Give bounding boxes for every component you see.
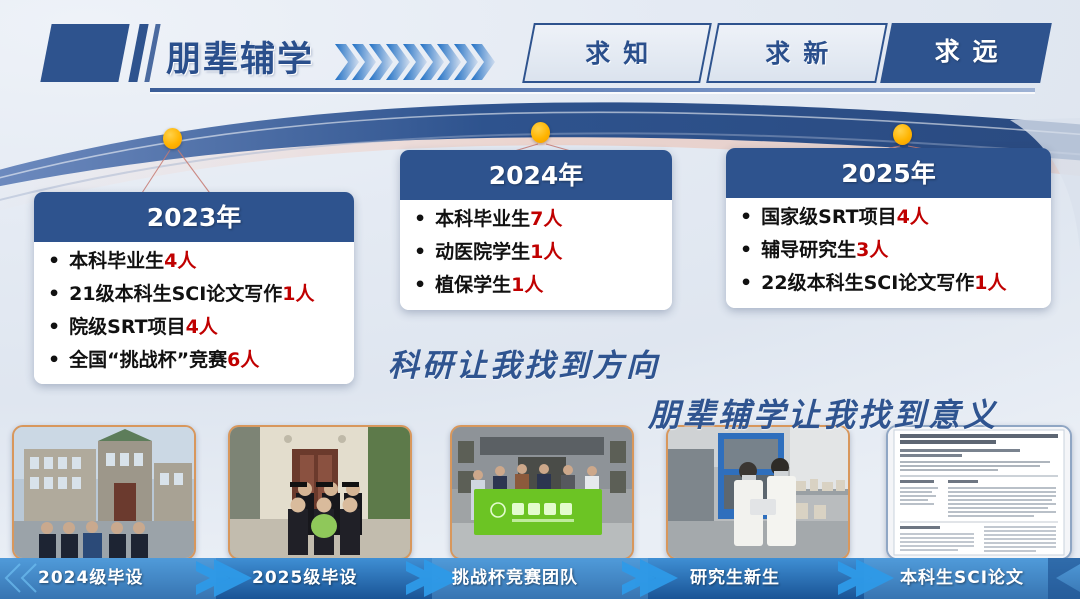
photo-caption: 挑战杯竞赛团队 [452, 558, 578, 599]
list-item-count: 1人 [530, 241, 562, 263]
page-title: 朋辈辅学 [166, 31, 314, 82]
list-item-count: 1人 [511, 274, 543, 296]
annotation-research-direction: 科研让我找到方向 [388, 340, 660, 385]
bullet-icon: • [48, 350, 60, 372]
year-card-2024[interactable]: 2024年 • 本科毕业生7人 • 动医院学生1人 • 植保学生1人 [400, 150, 672, 310]
photo-graduate-newcomers-lab[interactable] [666, 425, 850, 560]
list-item-text: 院级SRT项目 [69, 316, 185, 338]
year-card-body: • 国家级SRT项目4人 • 辅导研究生3人 • 22级本科生SCI论文写作1人 [726, 198, 1051, 308]
list-item: • 22级本科生SCI论文写作1人 [740, 273, 1039, 295]
header-underline-highlight [150, 92, 1035, 94]
bullet-icon: • [414, 275, 426, 297]
list-item-count: 1人 [282, 283, 314, 305]
year-card-body: • 本科毕业生4人 • 21级本科生SCI论文写作1人 • 院级SRT项目4人 … [34, 242, 354, 384]
list-item: • 全国“挑战杯”竞赛6人 [48, 350, 342, 372]
tab-label: 求新 [714, 25, 880, 83]
bullet-icon: • [414, 242, 426, 264]
slide-header: 朋辈辅学 [0, 18, 1080, 90]
year-card-2025[interactable]: 2025年 • 国家级SRT项目4人 • 辅导研究生3人 • 22级本科生SCI… [726, 148, 1051, 308]
list-item-count: 1人 [974, 272, 1006, 294]
caption-ribbon: 2024级毕设 2025级毕设 挑战杯竞赛团队 研究生新生 本科生SCI论文 [0, 558, 1080, 599]
tab-label: 求远 [886, 23, 1046, 81]
list-item-text: 本科毕业生 [435, 208, 530, 230]
year-card-title: 2025年 [726, 148, 1051, 198]
photo-2024-graduation[interactable] [12, 425, 196, 560]
list-item-count: 4人 [186, 316, 218, 338]
photo-2025-graduation[interactable] [228, 425, 412, 560]
year-card-title: 2024年 [400, 150, 672, 200]
list-item-count: 3人 [856, 239, 888, 261]
list-item-text: 辅导研究生 [761, 239, 856, 261]
annotation-peer-tutoring-meaning: 朋辈辅学让我找到意义 [648, 390, 998, 436]
bullet-icon: • [740, 273, 752, 295]
tab-qiu-yuan[interactable]: 求远 [880, 23, 1052, 83]
tab-qiu-zhi[interactable]: 求知 [522, 23, 712, 83]
tab-label: 求知 [530, 25, 704, 83]
bullet-icon: • [740, 240, 752, 262]
timeline-dot-2025 [893, 124, 912, 145]
list-item-text: 动医院学生 [435, 241, 530, 263]
slide-canvas: 朋辈辅学 [0, 0, 1080, 599]
list-item: • 国家级SRT项目4人 [740, 207, 1039, 229]
bullet-icon: • [740, 207, 752, 229]
list-item: • 本科毕业生7人 [414, 209, 660, 231]
list-item-count: 6人 [227, 349, 259, 371]
bullet-icon: • [48, 284, 60, 306]
list-item-count: 4人 [164, 250, 196, 272]
bullet-icon: • [414, 209, 426, 231]
timeline-dot-2024 [531, 122, 550, 143]
chevrons-right-icon [335, 44, 510, 80]
year-card-2023[interactable]: 2023年 • 本科毕业生4人 • 21级本科生SCI论文写作1人 • 院级SR… [34, 192, 354, 384]
photo-caption: 2024级毕设 [38, 558, 143, 599]
year-card-title: 2023年 [34, 192, 354, 242]
list-item-count: 4人 [897, 206, 929, 228]
photo-caption: 研究生新生 [690, 558, 780, 599]
tab-qiu-xin[interactable]: 求新 [706, 23, 888, 83]
list-item-text: 国家级SRT项目 [761, 206, 896, 228]
list-item-text: 本科毕业生 [69, 250, 164, 272]
list-item-count: 7人 [530, 208, 562, 230]
photo-caption: 本科生SCI论文 [900, 558, 1024, 599]
list-item-text: 植保学生 [435, 274, 511, 296]
bullet-icon: • [48, 317, 60, 339]
list-item-text: 全国“挑战杯”竞赛 [69, 349, 227, 371]
list-item: • 辅导研究生3人 [740, 240, 1039, 262]
header-accent-block [40, 24, 129, 82]
list-item: • 植保学生1人 [414, 275, 660, 297]
list-item: • 本科毕业生4人 [48, 251, 342, 273]
bullet-icon: • [48, 251, 60, 273]
list-item: • 动医院学生1人 [414, 242, 660, 264]
list-item-text: 21级本科生SCI论文写作 [69, 283, 282, 305]
year-card-body: • 本科毕业生7人 • 动医院学生1人 • 植保学生1人 [400, 200, 672, 310]
list-item: • 院级SRT项目4人 [48, 317, 342, 339]
photo-challenge-cup-team[interactable] [450, 425, 634, 560]
photo-undergraduate-sci-paper[interactable] [886, 425, 1072, 560]
timeline-dot-2023 [163, 128, 182, 149]
list-item: • 21级本科生SCI论文写作1人 [48, 284, 342, 306]
list-item-text: 22级本科生SCI论文写作 [761, 272, 974, 294]
photo-caption: 2025级毕设 [252, 558, 357, 599]
